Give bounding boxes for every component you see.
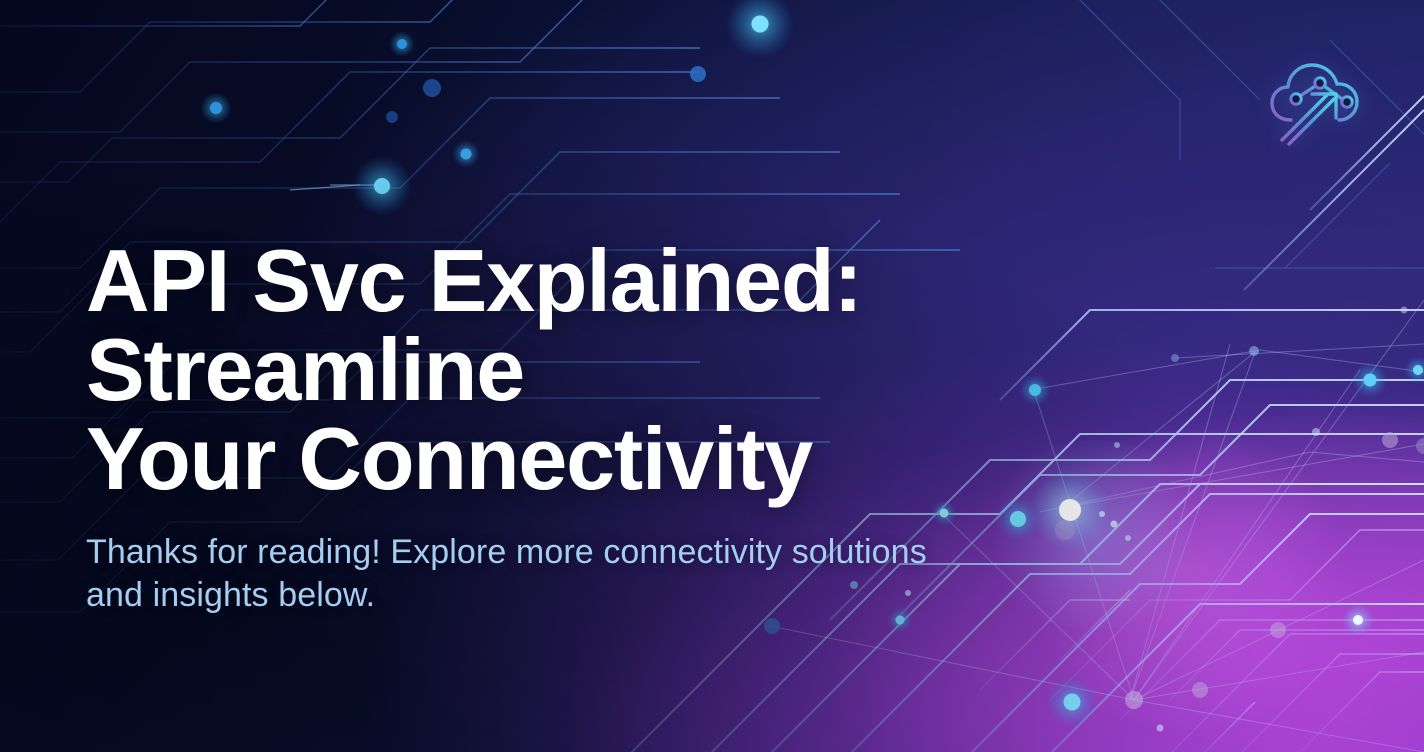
page-subtitle: Thanks for reading! Explore more connect… bbox=[86, 531, 1316, 617]
cloud-network-arrow-logo bbox=[1264, 52, 1374, 152]
hero-banner: API Svc Explained: Streamline Your Conne… bbox=[0, 0, 1424, 752]
hero-text-block: API Svc Explained: Streamline Your Conne… bbox=[86, 236, 1316, 617]
page-title: API Svc Explained: Streamline Your Conne… bbox=[86, 236, 1316, 503]
